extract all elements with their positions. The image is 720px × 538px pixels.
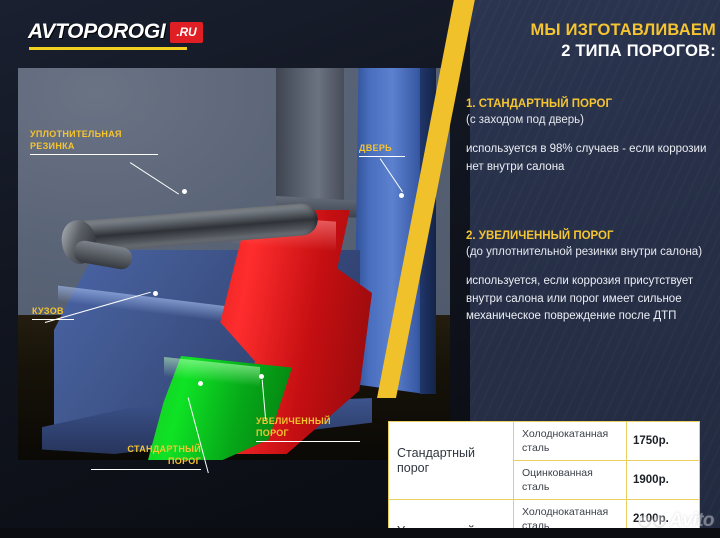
inner-pillar-shape	[276, 68, 344, 214]
block-1-heading: 1. СТАНДАРТНЫЙ ПОРОГ	[466, 96, 710, 112]
label-door: ДВЕРЬ	[359, 142, 405, 157]
price-table: Стандартный порог Холоднокатанная сталь …	[388, 421, 700, 538]
leader-dot-rubber	[182, 189, 187, 194]
price-material: Оцинкованная сталь	[513, 461, 626, 499]
sill-cross-section-illustration	[18, 68, 450, 460]
table-row: Холоднокатанная сталь 1750р.	[513, 422, 699, 460]
brand-name: AVTOPOROGI	[28, 20, 165, 44]
heading-line-2: 2 ТИПА ПОРОГОВ:	[478, 41, 716, 62]
block-2-heading: 2. УВЕЛИЧЕННЫЙ ПОРОГ	[466, 228, 710, 244]
label-standard-sill: СТАНДАРТНЫЙ ПОРОГ	[91, 443, 201, 470]
block-2-subheading: (до уплотнительной резинки внутри салона…	[466, 244, 710, 260]
table-row: Оцинкованная сталь 1900р.	[513, 460, 699, 499]
door-edge-shape	[420, 68, 436, 394]
block-1-body: используется в 98% случаев - если корроз…	[466, 141, 710, 176]
label-sealing-rubber: УПЛОТНИТЕЛЬНАЯ РЕЗИНКА	[30, 128, 158, 155]
price-group-standard: Стандартный порог Холоднокатанная сталь …	[389, 422, 699, 499]
price-material: Холоднокатанная сталь	[513, 422, 626, 460]
price-value: 1900р.	[626, 461, 699, 499]
price-group-name: Стандартный порог	[389, 422, 513, 499]
label-enlarged-sill: УВЕЛИЧЕННЫЙ ПОРОГ	[256, 415, 360, 442]
heading-line-1: МЫ ИЗГОТАВЛИВАЕМ	[478, 20, 716, 41]
sill-type-block-2: 2. УВЕЛИЧЕННЫЙ ПОРОГ (до уплотнительной …	[466, 228, 710, 326]
bottom-bar	[0, 528, 720, 538]
sill-type-block-1: 1. СТАНДАРТНЫЙ ПОРОГ (с заходом под двер…	[466, 96, 710, 176]
price-value: 1750р.	[626, 422, 699, 460]
logo-underline	[29, 47, 187, 50]
leader-dot-body	[153, 291, 158, 296]
brand-logo: AVTOPOROGI .RU	[28, 20, 203, 44]
leader-dot-door	[399, 193, 404, 198]
leader-dot-enlarged	[259, 374, 264, 379]
block-1-subheading: (с заходом под дверь)	[466, 112, 710, 128]
car-sill-diagram	[18, 68, 450, 460]
poster-root: AVTOPOROGI .RU УПЛОТНИТЕЛЬНАЯ РЕЗИНКА	[0, 0, 720, 538]
leader-dot-standard	[198, 381, 203, 386]
brand-tld: .RU	[170, 22, 202, 43]
label-body: КУЗОВ	[32, 305, 74, 320]
poster-heading: МЫ ИЗГОТАВЛИВАЕМ 2 ТИПА ПОРОГОВ:	[478, 20, 716, 62]
block-2-body: используется, если коррозия присутствует…	[466, 273, 710, 326]
